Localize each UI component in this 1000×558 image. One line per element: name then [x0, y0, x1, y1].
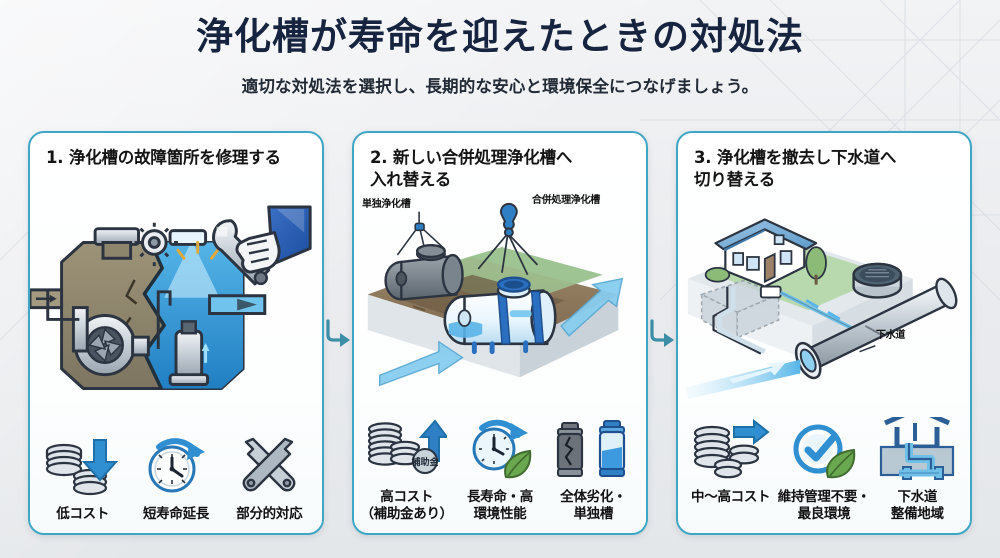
coins-right-arrow-icon: [684, 419, 776, 481]
feature-label: 高コスト （補助金あり）: [360, 489, 453, 523]
feature-icon-row: 補助金: [354, 411, 646, 485]
annotation-label: 単独浄化槽: [362, 195, 411, 210]
check-circle-leaf-icon: [778, 419, 870, 481]
header: 浄化槽が寿命を迎えたときの対処法 適切な対処法を選択し、長期的な安心と環境保全に…: [0, 16, 1000, 97]
infographic-root: 浄化槽が寿命を迎えたときの対処法 適切な対処法を選択し、長期的な安心と環境保全に…: [0, 0, 1000, 558]
feature-icon-row: [30, 428, 322, 502]
feature-label: 短寿命延長: [129, 506, 222, 523]
card-title: 2. 新しい合併処理浄化槽へ 入れ替える: [354, 133, 646, 191]
card-replace[interactable]: 2. 新しい合併処理浄化槽へ 入れ替える: [352, 131, 648, 535]
feature-label: 全体劣化・ 単独槽: [547, 489, 640, 523]
subsidy-badge-text: 補助金: [410, 456, 439, 468]
feature-label: 中〜高コスト: [684, 489, 777, 523]
connector-arrow-1: [324, 131, 352, 535]
clock-arrow-icon: [130, 436, 222, 498]
house-sewer-connection-illustration: 下水道: [678, 193, 970, 412]
clock-leaf-icon: [454, 419, 546, 481]
feature-label-row: 高コスト （補助金あり） 長寿命・高 環境性能 全体劣化・ 単独槽: [354, 485, 646, 533]
card-repair[interactable]: 1. 浄化槽の故障箇所を修理する: [28, 131, 324, 535]
wrench-screwdriver-icon: [223, 436, 315, 498]
annotation-label: 下水道: [876, 326, 905, 341]
page-subtitle: 適切な対処法を選択し、長期的な安心と環境保全につなげましょう。: [0, 73, 1000, 97]
feature-label: 部分的対応: [223, 506, 316, 523]
card-title: 3. 浄化槽を撤去し下水道へ 切り替える: [678, 133, 970, 191]
two-tanks-icon: [547, 417, 639, 481]
annotation-label: 合併処理浄化槽: [532, 191, 600, 206]
septic-tank-repair-illustration: [30, 191, 322, 428]
coins-down-arrow-icon: [36, 436, 128, 498]
feature-label-row: 中〜高コスト 維持管理不要・ 最良環境 下水道 整備地域: [678, 485, 970, 533]
feature-label: 長寿命・高 環境性能: [453, 489, 546, 523]
feature-label: 低コスト: [36, 506, 129, 523]
connector-arrow-2: [648, 131, 676, 535]
feature-label: 下水道 整備地域: [871, 489, 964, 523]
feature-label-row: 低コスト 短寿命延長 部分的対応: [30, 502, 322, 533]
tank-replacement-illustration: 単独浄化槽 合併処理浄化槽: [354, 193, 646, 412]
house-pipe-icon: [871, 417, 963, 481]
feature-icon-row: [678, 411, 970, 485]
card-title: 1. 浄化槽の故障箇所を修理する: [30, 133, 322, 189]
card-sewer[interactable]: 3. 浄化槽を撤去し下水道へ 切り替える: [676, 131, 972, 535]
coins-up-arrow-subsidy-icon: 補助金: [360, 415, 452, 481]
feature-label: 維持管理不要・ 最良環境: [777, 489, 870, 523]
cards-container: 1. 浄化槽の故障箇所を修理する: [28, 131, 972, 535]
page-title: 浄化槽が寿命を迎えたときの対処法: [0, 16, 1000, 59]
